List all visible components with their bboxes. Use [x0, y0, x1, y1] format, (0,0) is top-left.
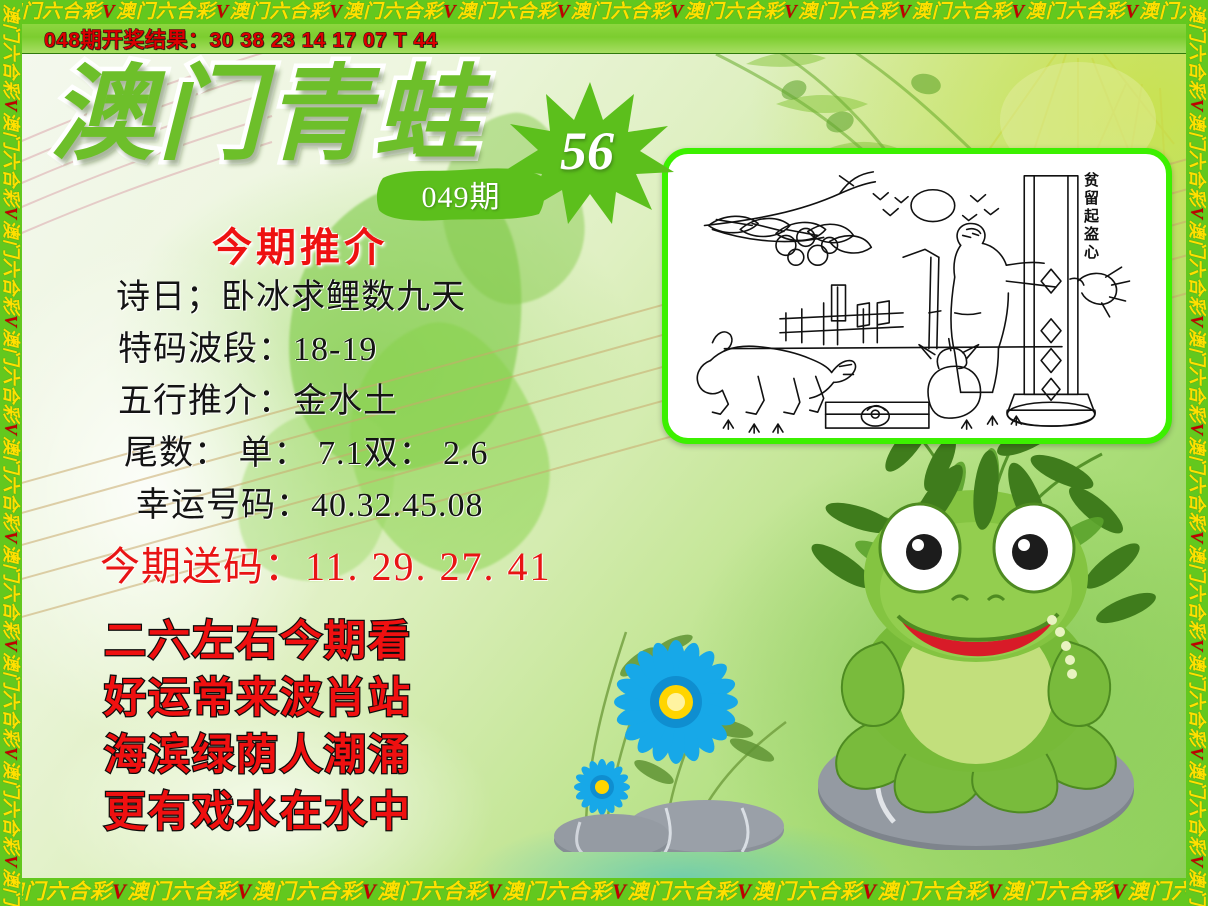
lottery-result-bar: 048期开奖结果：30 38 23 14 17 07 T 44 — [22, 24, 1186, 54]
flower-small — [574, 759, 630, 815]
border-bottom: 澳门六合彩V澳门六合彩V澳门六合彩V澳门六合彩V澳门六合彩V澳门六合彩V澳门六合… — [0, 878, 1208, 906]
send-codes-numbers: 11. 29. 27. 41 — [305, 544, 552, 589]
verse-line-1: 二六左右今期看 — [104, 612, 412, 669]
verse-line-3: 海滨绿荫人潮涌 — [104, 726, 412, 783]
page-title: 澳门青蛙 — [50, 62, 482, 166]
border-right-text: 澳门六合彩V澳门六合彩V澳门六合彩V澳门六合彩V澳门六合彩V澳门六合彩V澳门六合… — [1188, 4, 1206, 906]
poster-title-wrap: 澳门青蛙 — [50, 62, 482, 166]
frog-mascot — [790, 398, 1162, 850]
illustration-panel: 贫留起盗心 — [662, 148, 1172, 444]
send-codes-row: 今期送码：11. 29. 27. 41 — [100, 536, 656, 598]
result-text: 048期开奖结果：30 38 23 14 17 07 T 44 — [44, 24, 438, 54]
info-row-five-elements: 五行推介：金水土 — [118, 376, 656, 428]
info-heading: 今期推介 — [212, 224, 656, 272]
border-top: 澳门六合彩V澳门六合彩V澳门六合彩V澳门六合彩V澳门六合彩V澳门六合彩V澳门六合… — [0, 0, 1208, 24]
pillar-inscription: 贫留起盗心 — [1082, 172, 1100, 262]
frog-eye-right — [994, 504, 1074, 592]
stones — [554, 800, 784, 852]
border-left: 澳门六合彩V澳门六合彩V澳门六合彩V澳门六合彩V澳门六合彩V澳门六合彩V澳门六合… — [0, 0, 22, 906]
frog-eye-left — [880, 504, 960, 592]
forecast-info-block: 今期推介 诗日；卧冰求鲤数九天 特码波段：18-19 五行推介：金水土 尾数： … — [96, 224, 656, 598]
info-row-poem: 诗日；卧冰求鲤数九天 — [116, 272, 656, 324]
verse-line-4: 更有戏水在水中 — [104, 783, 412, 840]
verse-line-2: 好运常来波肖站 — [104, 669, 412, 726]
issue-period-banner: 049期 — [373, 166, 549, 222]
info-row-wave-band: 特码波段：18-19 — [118, 324, 656, 376]
border-bottom-text: 澳门六合彩V澳门六合彩V澳门六合彩V澳门六合彩V澳门六合彩V澳门六合彩V澳门六合… — [2, 883, 1208, 902]
poster-root: 048期开奖结果：30 38 23 14 17 07 T 44 澳门青蛙 56 … — [0, 0, 1208, 906]
verse-block: 二六左右今期看 好运常来波肖站 海滨绿荫人潮涌 更有戏水在水中 — [104, 612, 412, 840]
period-label: 049期 — [373, 166, 549, 222]
info-row-tail-numbers: 尾数： 单： 7.1双： 2.6 — [124, 428, 656, 480]
info-row-lucky-numbers: 幸运号码：40.32.45.08 — [136, 480, 656, 532]
border-top-text: 澳门六合彩V澳门六合彩V澳门六合彩V澳门六合彩V澳门六合彩V澳门六合彩V澳门六合… — [2, 3, 1208, 22]
border-left-text: 澳门六合彩V澳门六合彩V澳门六合彩V澳门六合彩V澳门六合彩V澳门六合彩V澳门六合… — [2, 4, 20, 906]
border-right: 澳门六合彩V澳门六合彩V澳门六合彩V澳门六合彩V澳门六合彩V澳门六合彩V澳门六合… — [1186, 0, 1208, 906]
send-codes-label: 今期送码： — [100, 544, 305, 589]
